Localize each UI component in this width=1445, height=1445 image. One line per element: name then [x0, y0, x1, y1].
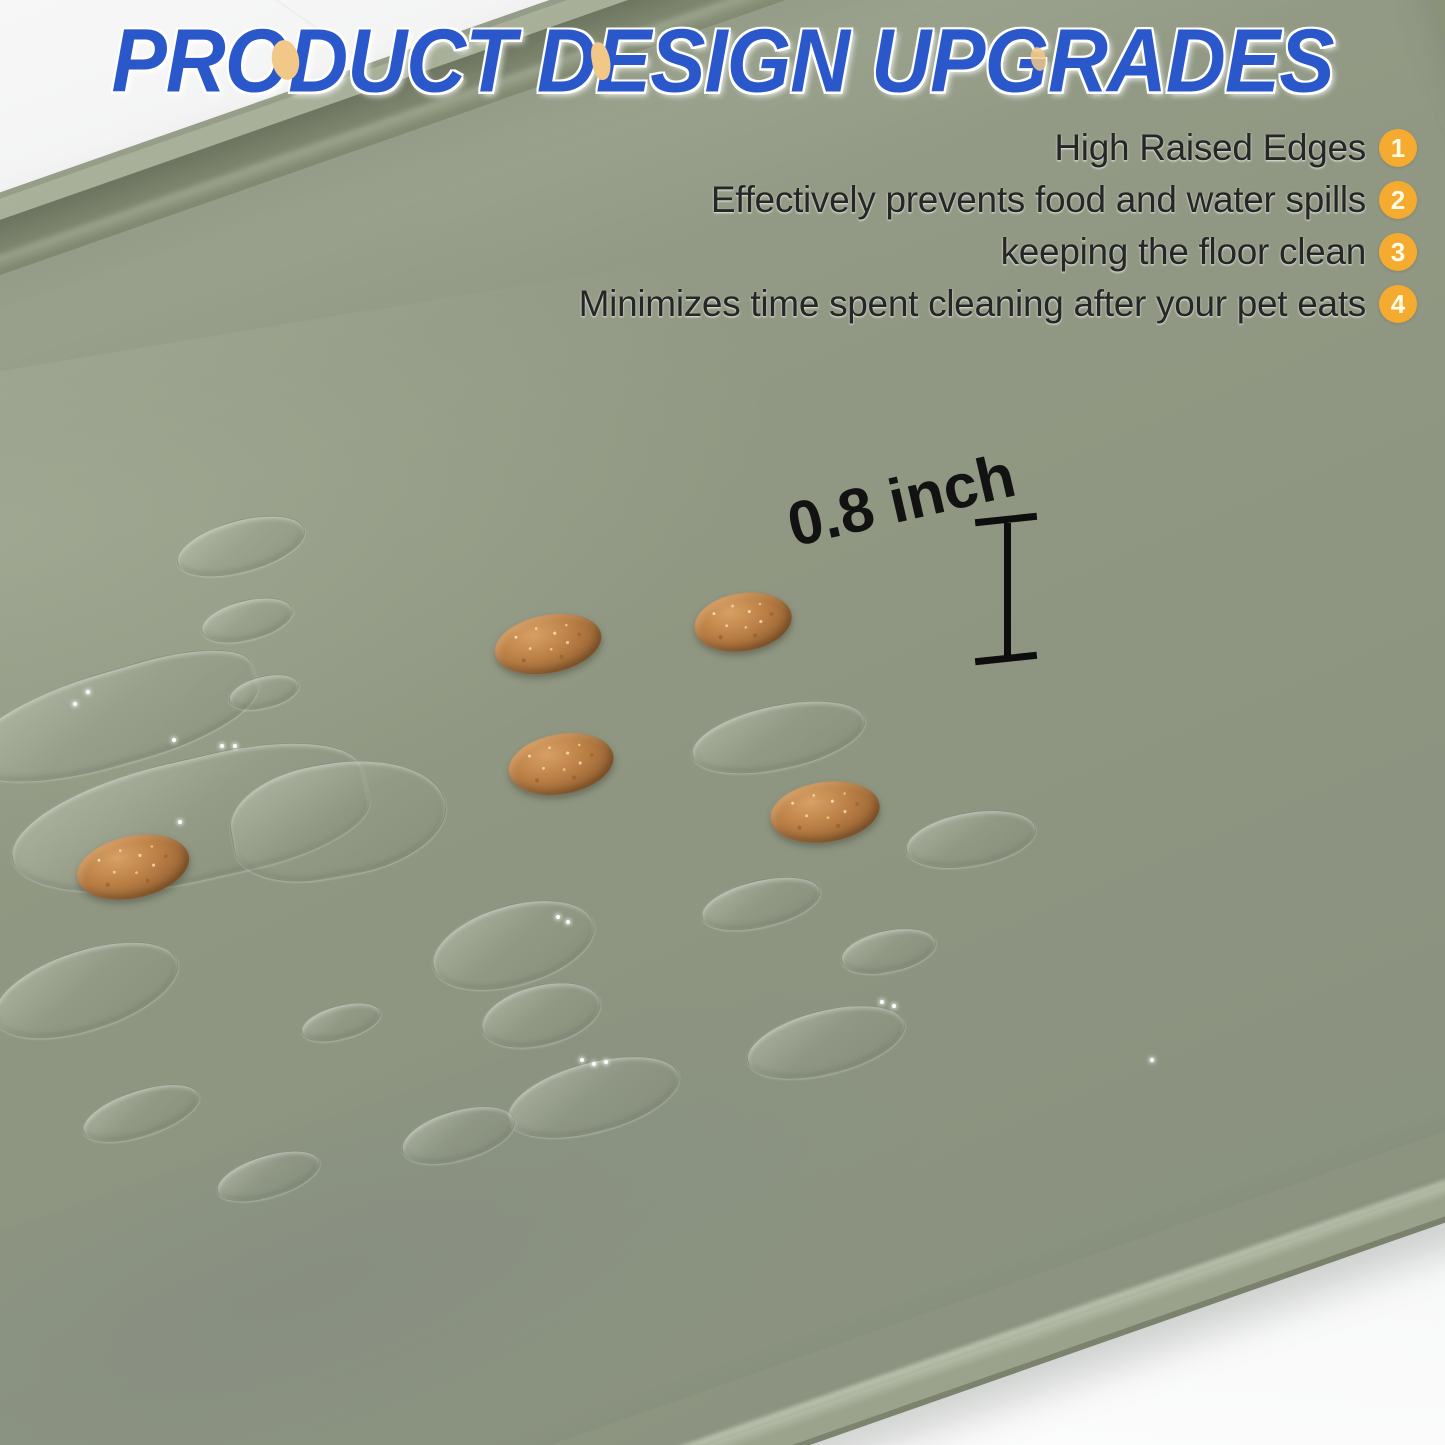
- feature-label: Minimizes time spent cleaning after your…: [579, 283, 1366, 325]
- feature-list: High Raised Edges 1 Effectively prevents…: [579, 122, 1417, 330]
- feature-number-badge: 1: [1379, 129, 1417, 167]
- dimension-line-vertical: [1004, 523, 1011, 661]
- feature-label: High Raised Edges: [1054, 127, 1366, 169]
- feature-label: Effectively prevents food and water spil…: [711, 179, 1366, 221]
- basin-sheen-secondary: [0, 248, 833, 971]
- feature-number-badge: 3: [1379, 233, 1417, 271]
- feature-item: Effectively prevents food and water spil…: [579, 174, 1417, 226]
- feature-number-badge: 4: [1379, 285, 1417, 323]
- feature-item: keeping the floor clean 3: [579, 226, 1417, 278]
- feature-item: High Raised Edges 1: [579, 122, 1417, 174]
- feature-label: keeping the floor clean: [1001, 231, 1366, 273]
- product-marketing-image: 0.8 inch PRODUCT DESIGN UPGRADES High Ra…: [0, 0, 1445, 1445]
- feature-item: Minimizes time spent cleaning after your…: [579, 278, 1417, 330]
- feature-number-badge: 2: [1379, 181, 1417, 219]
- page-title: PRODUCT DESIGN UPGRADES: [0, 16, 1445, 106]
